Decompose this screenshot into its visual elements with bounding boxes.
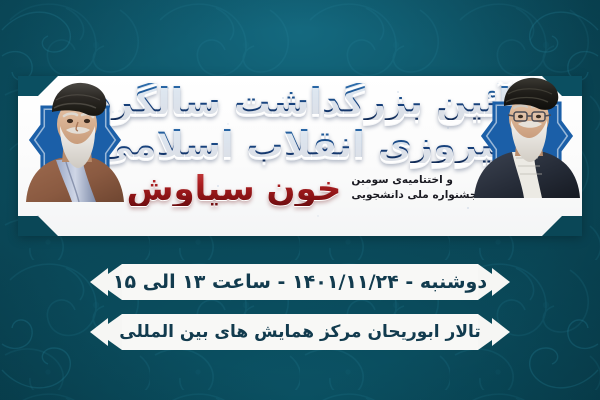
festival-subtitle-line-1: و اختتامیه‌ی سومین (351, 173, 452, 188)
portrait-khomeini (16, 78, 134, 202)
plaque-notch-bottom-left (18, 196, 58, 236)
venue-ribbon: تالار ابوریحان مرکز همایش های بین المللی (90, 312, 510, 352)
title-line-1: آئین بزرگداشت سالگرد (93, 83, 511, 120)
corner-ornament-bottom-right (508, 308, 600, 400)
portrait-khamenei (468, 74, 586, 198)
festival-subtitle: و اختتامیه‌ی سومین جشنواره ملی دانشجویی (351, 173, 477, 205)
portrait-medallion-left (16, 78, 134, 202)
festival-highlight-title: خون سیاوش (127, 172, 342, 206)
title-line-2: پیروزی انقلاب اسلامی (96, 126, 508, 163)
corner-ornament-bottom-left (0, 308, 92, 400)
festival-subtitle-line-2: جشنواره ملی دانشجویی (351, 188, 477, 203)
headline-block: آئین بزرگداشت سالگرد پیروزی انقلاب اسلام… (118, 78, 486, 234)
poster-canvas: آئین بزرگداشت سالگرد پیروزی انقلاب اسلام… (0, 0, 600, 400)
date-ribbon: دوشنبه - ۱۴۰۱/۱۱/۲۴ - ساعت ۱۳ الی ۱۵ (90, 262, 510, 302)
plaque-notch-bottom-right (542, 196, 582, 236)
portrait-medallion-right (468, 74, 586, 198)
venue-ribbon-text: تالار ابوریحان مرکز همایش های بین المللی (90, 312, 510, 352)
subtitle-row: خون سیاوش و اختتامیه‌ی سومین جشنواره ملی… (118, 172, 486, 206)
date-ribbon-text: دوشنبه - ۱۴۰۱/۱۱/۲۴ - ساعت ۱۳ الی ۱۵ (90, 262, 510, 302)
